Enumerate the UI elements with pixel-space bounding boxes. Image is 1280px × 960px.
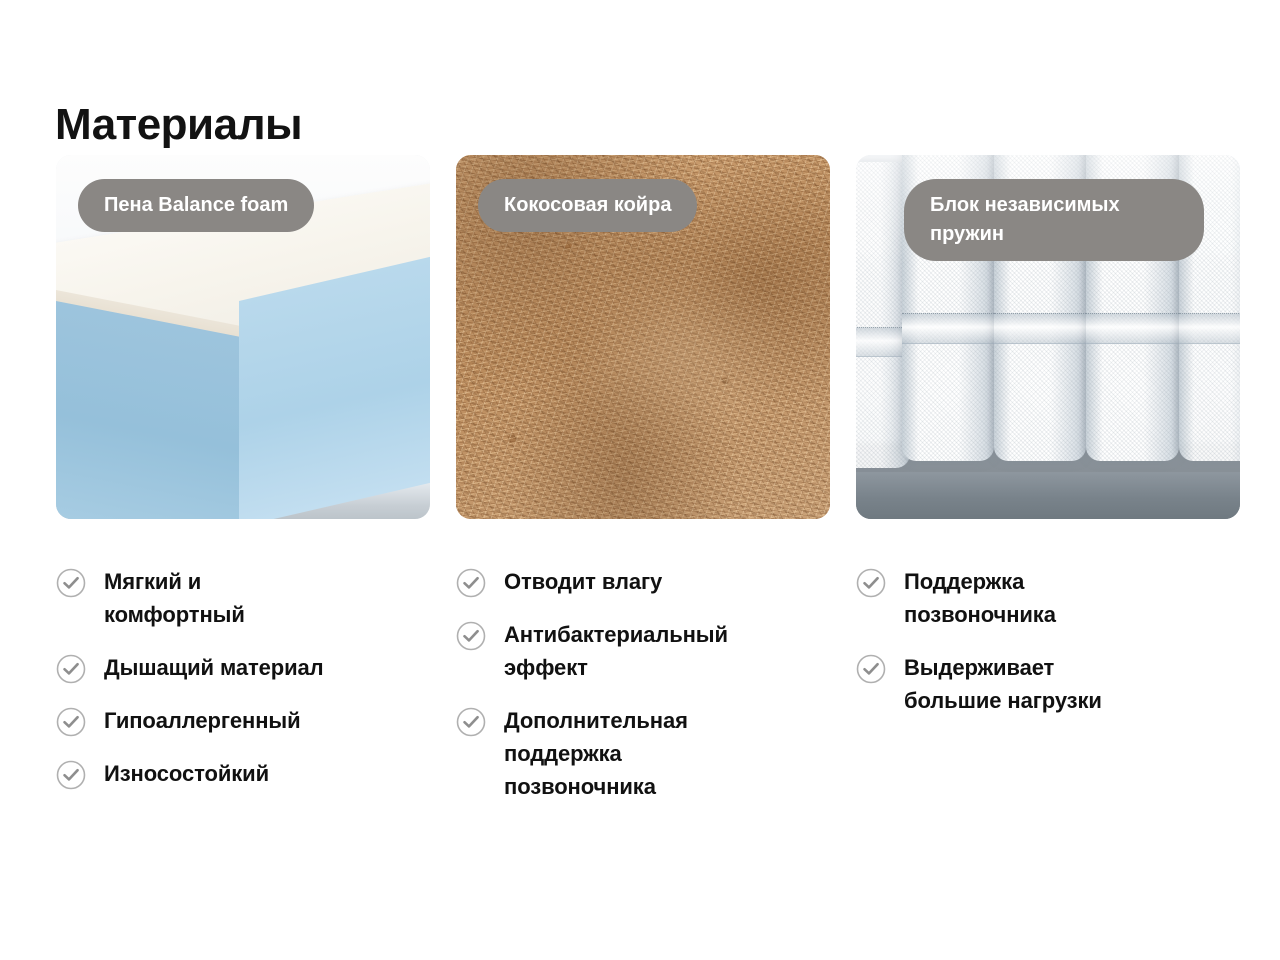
check-circle-icon [456,568,486,598]
feature-label: Антибактериальный эффект [504,618,728,684]
feature-label: Износостойкий [104,757,269,790]
list-item: Выдерживает большие нагрузки [856,651,1230,717]
material-badge-springs: Блок независимых пружин [904,179,1204,261]
list-item: Дышащий материал [56,651,430,684]
check-circle-icon [456,707,486,737]
list-item: Поддержка позвоночника [856,565,1230,631]
feature-label: Дополнительная поддержка позвоночника [504,704,688,803]
feature-label: Мягкий и комфортный [104,565,245,631]
feature-label: Выдерживает большие нагрузки [904,651,1102,717]
list-item: Антибактериальный эффект [456,618,830,684]
list-item: Дополнительная поддержка позвоночника [456,704,830,803]
check-circle-icon [456,621,486,651]
check-circle-icon [56,568,86,598]
list-item: Износостойкий [56,757,430,790]
material-badge-coir: Кокосовая койра [478,179,697,232]
feature-label: Поддержка позвоночника [904,565,1056,631]
page-title: Материалы [55,99,302,151]
check-circle-icon [856,568,886,598]
material-column-foam: Пена Balance foam Мягкий и комфортный [56,155,430,519]
check-circle-icon [56,760,86,790]
list-item: Гипоаллергенный [56,704,430,737]
feature-list-foam: Мягкий и комфортный Дышащий материал [56,565,430,810]
material-card-foam[interactable]: Пена Balance foam [56,155,430,519]
foam-left-face [56,301,239,519]
list-item: Отводит влагу [456,565,830,598]
materials-slide: Материалы Пена Balance foam [0,0,1280,960]
feature-list-coir: Отводит влагу Антибактериальный эффект [456,565,830,823]
feature-list-springs: Поддержка позвоночника Выдерживает больш… [856,565,1230,737]
material-column-coir: Кокосовая койра Отводит влагу [456,155,830,519]
list-item: Мягкий и комфортный [56,565,430,631]
material-card-coir[interactable]: Кокосовая койра [456,155,830,519]
check-circle-icon [856,654,886,684]
material-card-springs[interactable]: Блок независимых пружин [856,155,1240,519]
check-circle-icon [56,707,86,737]
feature-label: Дышащий материал [104,651,324,684]
check-circle-icon [56,654,86,684]
material-badge-foam: Пена Balance foam [78,179,314,232]
material-column-springs: Блок независимых пружин Поддержка позвон… [856,155,1230,519]
feature-label: Гипоаллергенный [104,704,301,737]
feature-label: Отводит влагу [504,565,662,598]
